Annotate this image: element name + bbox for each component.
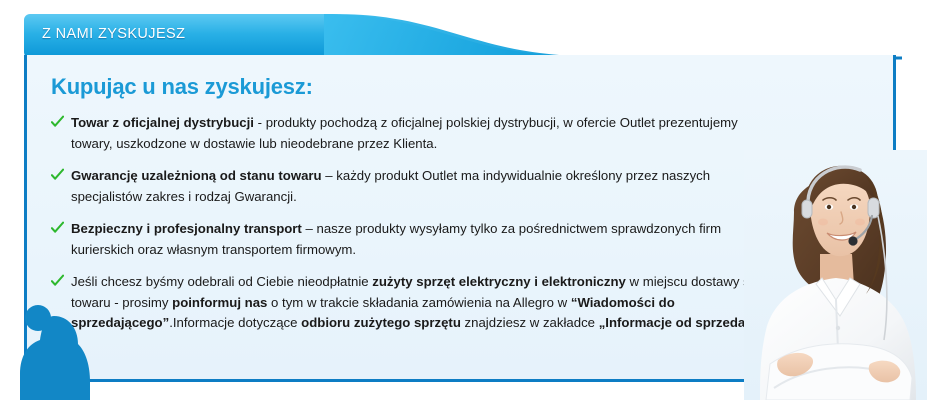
weee-text-4: .Informacje dotyczące	[169, 315, 301, 330]
weee-strong-4: odbioru zużytego sprzętu	[301, 315, 461, 330]
check-icon	[51, 168, 64, 182]
list-item: Bezpieczny i profesjonalny transport – n…	[51, 219, 771, 260]
weee-strong-2: poinformuj nas	[172, 295, 267, 310]
call-center-woman-photo	[744, 150, 927, 400]
consultant-illustration	[744, 150, 927, 400]
person-silhouette-shape	[16, 300, 96, 400]
weee-text-5: znajdziesz w zakładce	[461, 315, 599, 330]
promo-banner-page: Z NAMI ZYSKUJESZ Kupując u nas zyskujesz…	[0, 0, 927, 400]
check-icon	[51, 115, 64, 129]
list-item: Gwarancję uzależnioną od stanu towaru – …	[51, 166, 771, 207]
page-title: Kupując u nas zyskujesz:	[51, 74, 313, 100]
list-item-strong: Bezpieczny i profesjonalny transport	[71, 221, 302, 236]
weee-strong-1: zużyty sprzęt elektryczny i elektroniczn…	[372, 274, 626, 289]
person-silhouette-icon	[16, 300, 96, 400]
header-banner: Z NAMI ZYSKUJESZ	[24, 14, 902, 60]
list-item: Towar z oficjalnej dystrybucji - produkt…	[51, 113, 771, 154]
list-item-strong: Towar z oficjalnej dystrybucji	[71, 115, 254, 130]
benefits-list: Towar z oficjalnej dystrybucji - produkt…	[51, 113, 771, 334]
weee-text-3: o tym w trakcie składania zamówienia na …	[267, 295, 570, 310]
check-icon	[51, 221, 64, 235]
list-item: Jeśli chcesz byśmy odebrali od Ciebie ni…	[51, 272, 831, 334]
banner-title: Z NAMI ZYSKUJESZ	[42, 26, 185, 42]
check-icon	[51, 274, 64, 288]
weee-text-1: Jeśli chcesz byśmy odebrali od Ciebie ni…	[71, 274, 372, 289]
list-item-strong: Gwarancję uzależnioną od stanu towaru	[71, 168, 322, 183]
